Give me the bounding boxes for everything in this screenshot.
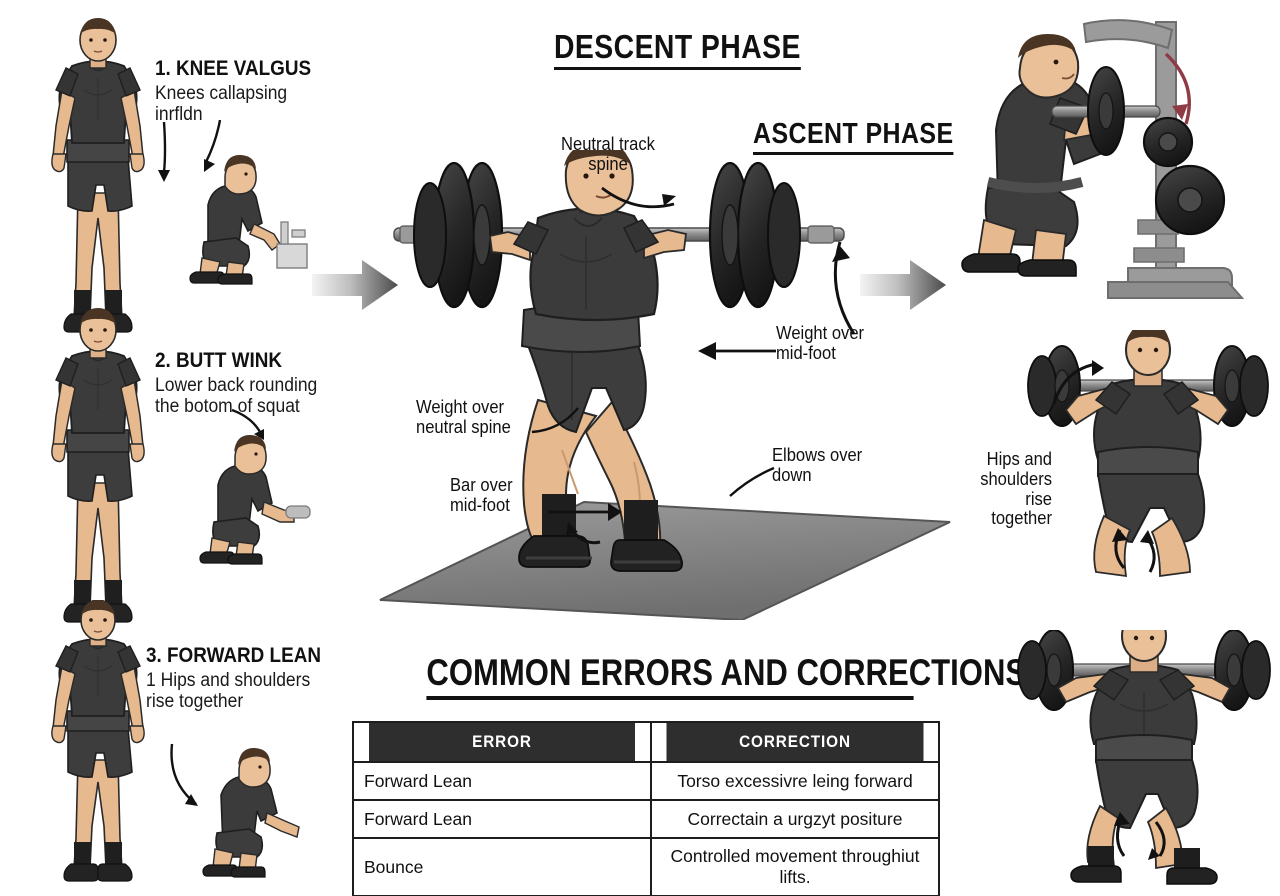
leader-arrow-bar-midfoot	[546, 500, 624, 526]
error-1-title: 1. KNEE VALGUS	[155, 58, 335, 80]
error-3-description: 1 Hips and shoulders rise together	[146, 671, 339, 712]
error-1-block: 1. KNEE VALGUS Knees callapsing inrfldn	[155, 58, 355, 125]
table-row: Forward Lean Correctain a urgzyt positur…	[353, 800, 939, 838]
curved-arrow-icon-ascent	[790, 230, 870, 340]
squat-technique-infographic: 1. KNEE VALGUS Knees callapsing inrfldn	[0, 0, 1280, 896]
column-header-error: ERROR	[368, 722, 636, 762]
common-errors-underline	[426, 696, 913, 700]
error-3-title: 3. FORWARD LEAN	[146, 645, 335, 667]
table-row: Bounce Controlled movement throughiut li…	[353, 838, 939, 896]
figure-rack-setup	[960, 10, 1270, 310]
cell-error: Forward Lean	[353, 762, 651, 800]
common-errors-label: COMMON ERRORS AND CORRECTIONS	[426, 652, 1026, 693]
column-header-correction: CORRECTION	[665, 722, 924, 762]
error-2-title: 2. BUTT WINK	[155, 350, 335, 372]
figure-squat-demo-2	[190, 430, 320, 575]
ascent-phase-label: ASCENT PHASE	[753, 118, 954, 150]
error-3-block: 3. FORWARD LEAN 1 Hips and shoulders ris…	[146, 645, 356, 712]
callout-bar-over-midfoot: Bar over mid-foot	[450, 476, 560, 516]
curved-arrow-icon-neutral-spine	[600, 180, 684, 220]
leader-arrow-weight-midfoot	[684, 338, 780, 364]
descent-phase-underline	[554, 67, 801, 70]
table-header-row: ERROR CORRECTION	[353, 722, 939, 762]
error-1-description: Knees callapsing inrfldn	[155, 84, 339, 125]
curved-arrow-icon-3	[170, 738, 240, 818]
cell-error: Forward Lean	[353, 800, 651, 838]
errors-corrections-table: ERROR CORRECTION Forward Lean Torso exce…	[352, 721, 940, 896]
figure-standing-lifter-1	[28, 18, 168, 348]
cell-error: Bounce	[353, 838, 651, 896]
leader-line-neutral-spine	[530, 404, 600, 446]
descent-phase-label: DESCENT PHASE	[554, 28, 801, 65]
callout-neutral-track-spine: Neutral track spine	[553, 135, 663, 175]
cell-correction: Torso excessivre leing forward	[651, 762, 939, 800]
curved-arrow-icon-hips	[1052, 360, 1108, 410]
callout-weight-over-neutral-spine: Weight over neutral spine	[416, 398, 536, 438]
cell-correction: Controlled movement throughiut lifts.	[651, 838, 939, 896]
common-errors-title: COMMON ERRORS AND CORRECTIONS	[426, 652, 913, 700]
table-row: Forward Lean Torso excessivre leing forw…	[353, 762, 939, 800]
callout-elbows-over-down: Elbows over down	[772, 446, 882, 486]
figure-standing-lifter-2	[28, 308, 168, 638]
callout-hips-shoulders-rise: Hips and shoulders rise together	[975, 450, 1052, 529]
curved-arrow-icon-2	[228, 408, 288, 448]
figure-standing-with-barbell	[1010, 630, 1278, 892]
curved-arrow-icon-1	[150, 120, 280, 190]
figure-main-back-squat	[322, 150, 958, 620]
descent-phase-title: DESCENT PHASE	[554, 28, 801, 70]
cell-correction: Correctain a urgzyt positure	[651, 800, 939, 838]
leader-line-elbows	[718, 466, 780, 502]
